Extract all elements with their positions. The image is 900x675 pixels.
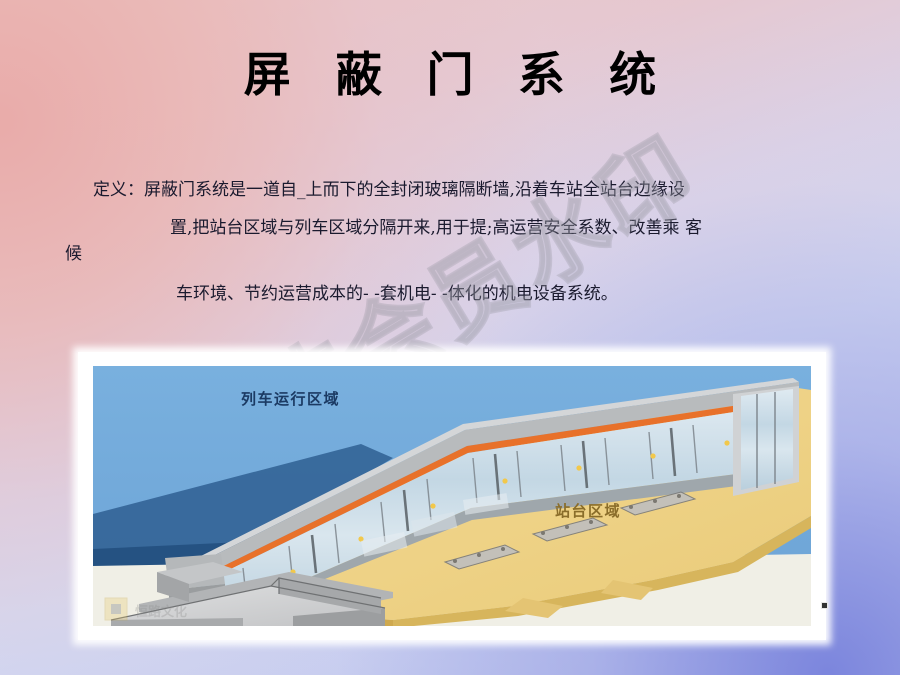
body-line-4: 车环境、节约运营成本的- -套机电- -体化的机电设备系统。 <box>0 286 900 304</box>
illustration-frame[interactable]: 恒路文化 列车运行区域 站台区域 <box>78 352 826 640</box>
slide-title: 屏 蔽 门 系 统 <box>0 50 900 103</box>
platform-screen-door-svg: 恒路文化 列车运行区域 站台区域 <box>93 366 811 626</box>
return-wall-glass <box>741 389 793 490</box>
slide-canvas: 非会员水印 屏 蔽 门 系 统 定义：屏蔽门系统是一道自_上而下的全封闭玻璃隔断… <box>0 0 900 675</box>
body-text-block: 定义：屏蔽门系统是一道自_上而下的全封闭玻璃隔断墙,沿着车站全站台边缘设 置,把… <box>0 182 900 303</box>
body-line-2: 置,把站台区域与列车区域分隔开来,用于提;高运营安全系数、改善乘 客 <box>0 220 900 238</box>
label-platform-area: 站台区域 <box>555 502 621 520</box>
image-resize-handle-right[interactable] <box>821 602 828 609</box>
illustration-image: 恒路文化 列车运行区域 站台区域 <box>93 366 811 626</box>
slide-title-text: 屏 蔽 门 系 统 <box>230 50 670 103</box>
body-line-1: 定义：屏蔽门系统是一道自_上而下的全封闭玻璃隔断墙,沿着车站全站台边缘设 <box>0 182 900 200</box>
body-line-3: 候 <box>0 246 900 264</box>
label-train-area: 列车运行区域 <box>241 390 340 408</box>
source-logo-text: 恒路文化 <box>135 604 187 620</box>
